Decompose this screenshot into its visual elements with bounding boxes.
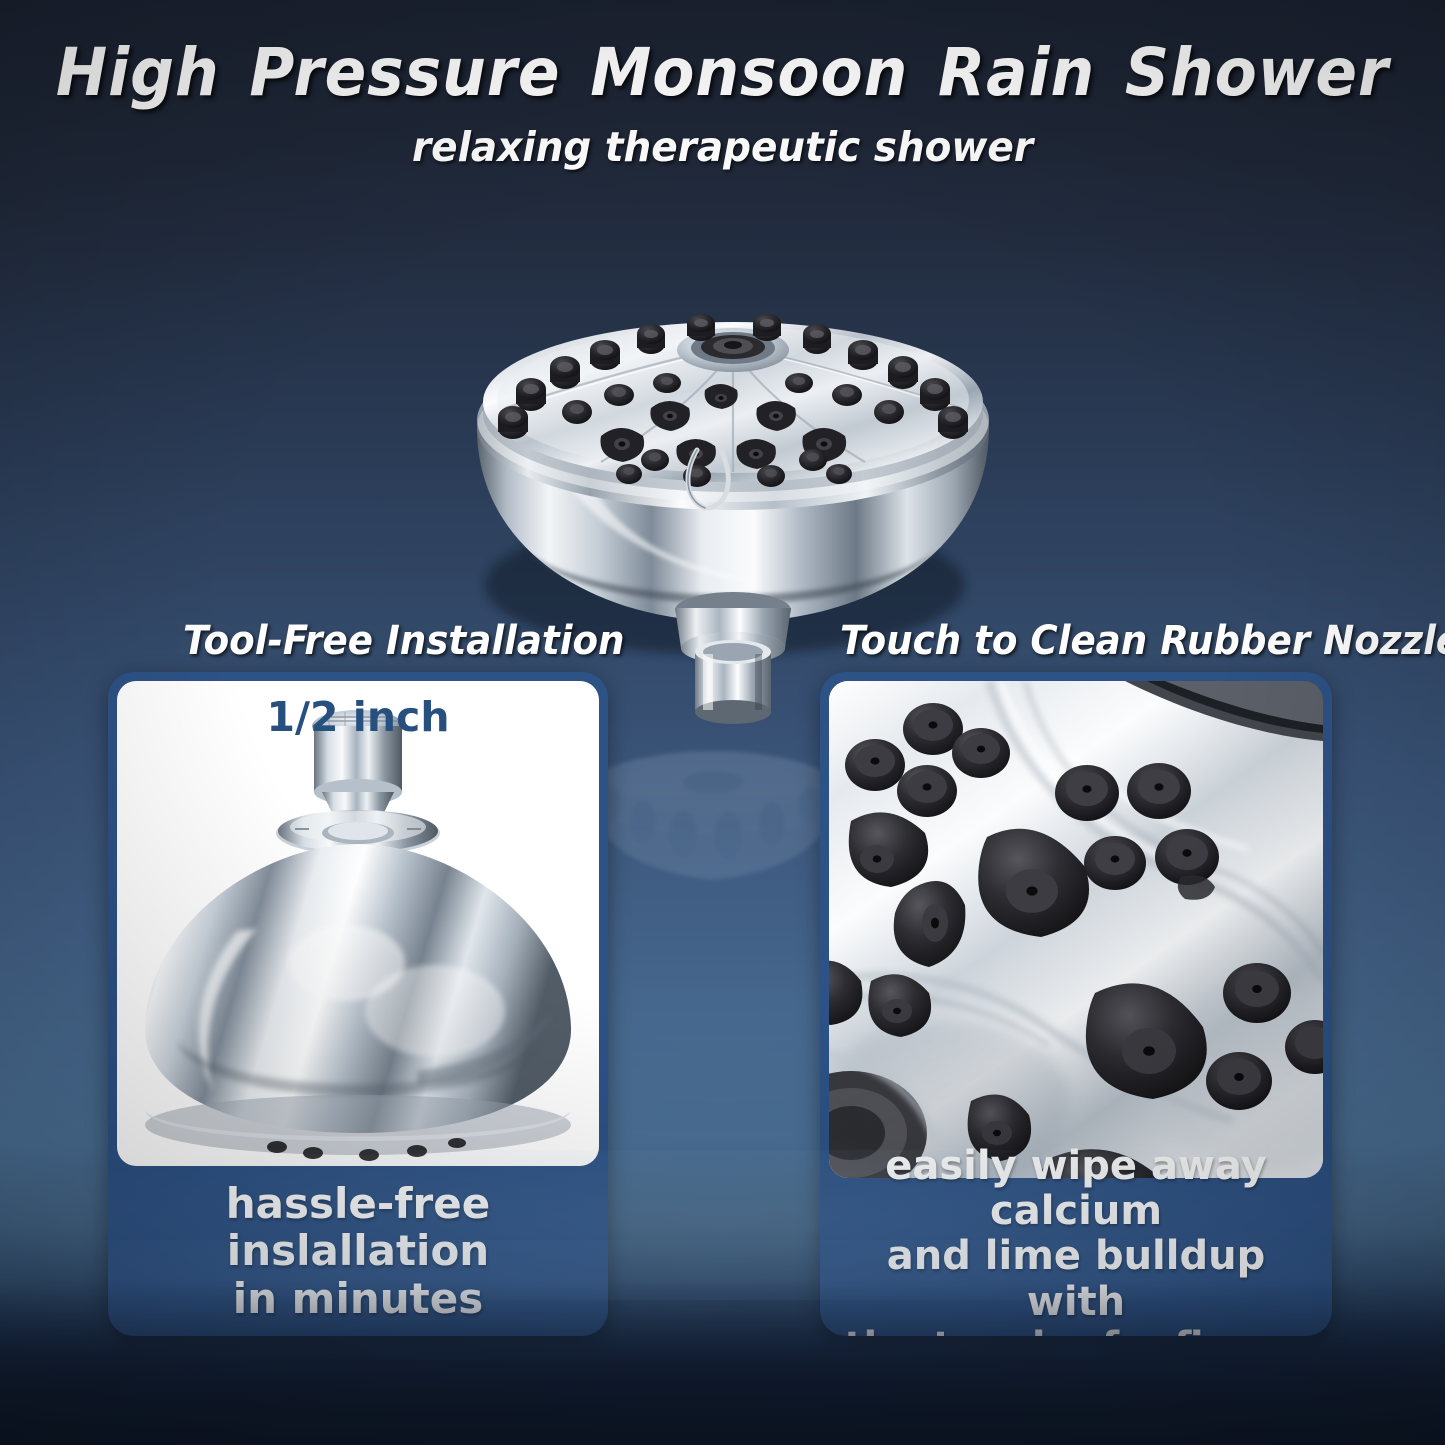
poster-header: High Pressure Monsoon Rain Shower relaxi…	[0, 0, 1445, 171]
feature-card-touch-to-clean: easily wipe away calcium and lime bulldu…	[820, 672, 1332, 1336]
section-heading-tool-free-installation: Tool-Free Installation	[183, 618, 625, 664]
product-poster: High Pressure Monsoon Rain Shower relaxi…	[0, 0, 1445, 1445]
rubber-nozzle-macro-image	[829, 681, 1323, 1178]
feature-card-tool-free-installation: 1/2 inch	[108, 672, 608, 1336]
card-photo-panel-left: 1/2 inch	[117, 681, 599, 1166]
card-caption-right: easily wipe away calcium and lime bulldu…	[820, 1178, 1332, 1336]
page-subtitle: relaxing therapeutic shower	[36, 123, 1409, 171]
card-photo-panel-right	[829, 681, 1323, 1178]
inch-size-label: 1/2 inch	[117, 693, 599, 741]
section-heading-touch-to-clean: Touch to Clean Rubber Nozzles	[840, 618, 1445, 664]
card-caption-left: hassle-free inslallation in minutes	[108, 1166, 608, 1336]
shower-head-underside-image	[117, 681, 599, 1166]
page-title: High Pressure Monsoon Rain Shower	[51, 38, 1395, 107]
